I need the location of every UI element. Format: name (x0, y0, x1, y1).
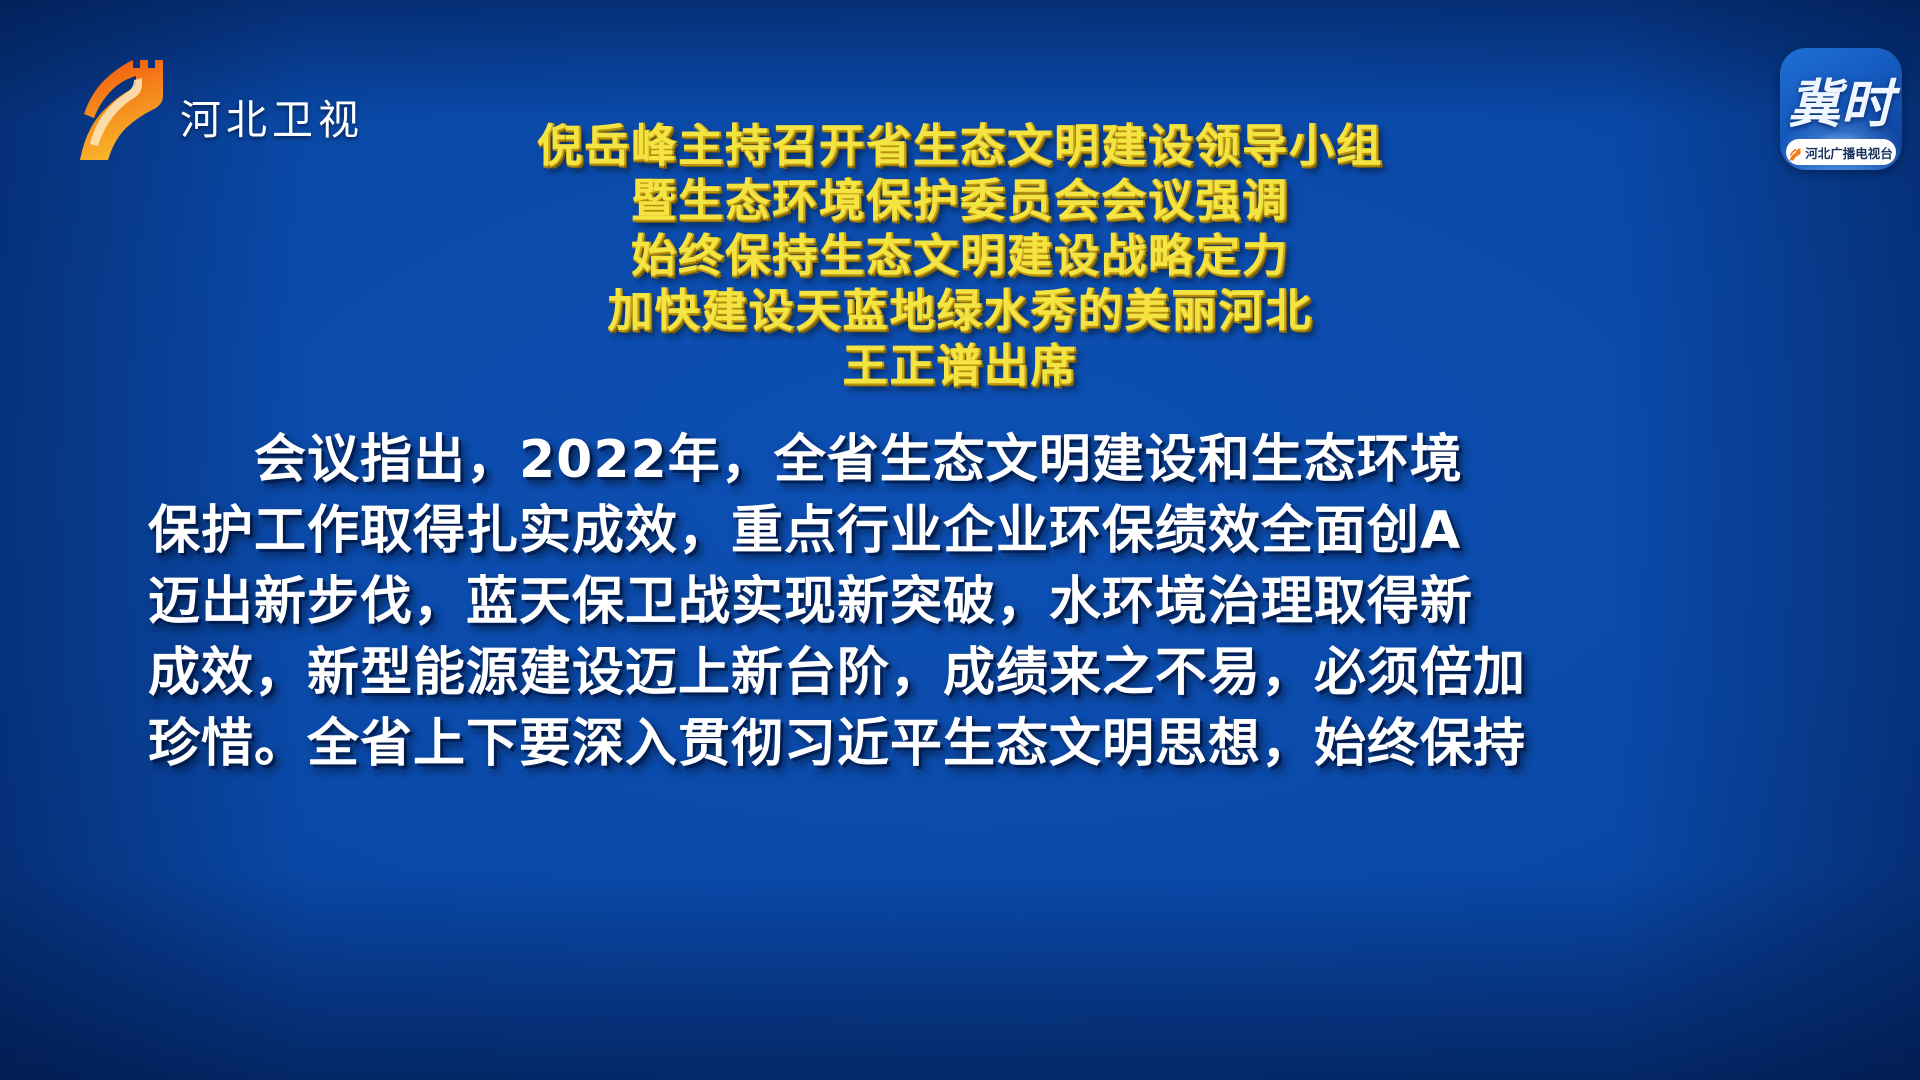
headline-line: 王正谱出席 (0, 338, 1920, 393)
headline-line: 暨生态环境保护委员会会议强调 (0, 173, 1920, 228)
broadcast-screen: 河北卫视 冀时 河北广播电视台 倪岳峰主持召开省生态文明建设领导小组 暨生态环境… (0, 0, 1920, 1080)
body-line: 成效，新型能源建设迈上新台阶，成绩来之不易，必须倍加 (148, 638, 1772, 709)
headline-line: 加快建设天蓝地绿水秀的美丽河北 (0, 283, 1920, 338)
headline-line: 倪岳峰主持召开省生态文明建设领导小组 (0, 118, 1920, 173)
body-line: 迈出新步伐，蓝天保卫战实现新突破，水环境治理取得新 (148, 567, 1772, 638)
headline-block: 倪岳峰主持召开省生态文明建设领导小组 暨生态环境保护委员会会议强调 始终保持生态… (0, 118, 1920, 393)
headline-line: 始终保持生态文明建设战略定力 (0, 228, 1920, 283)
body-line: 会议指出，2022年，全省生态文明建设和生态环境 (148, 425, 1772, 496)
body-line: 珍惜。全省上下要深入贯彻习近平生态文明思想，始终保持 (148, 709, 1772, 780)
vignette-bottom (0, 870, 1920, 1080)
body-text-block: 会议指出，2022年，全省生态文明建设和生态环境 保护工作取得扎实成效，重点行业… (148, 425, 1772, 780)
body-line: 保护工作取得扎实成效，重点行业企业环保绩效全面创A (148, 496, 1772, 567)
